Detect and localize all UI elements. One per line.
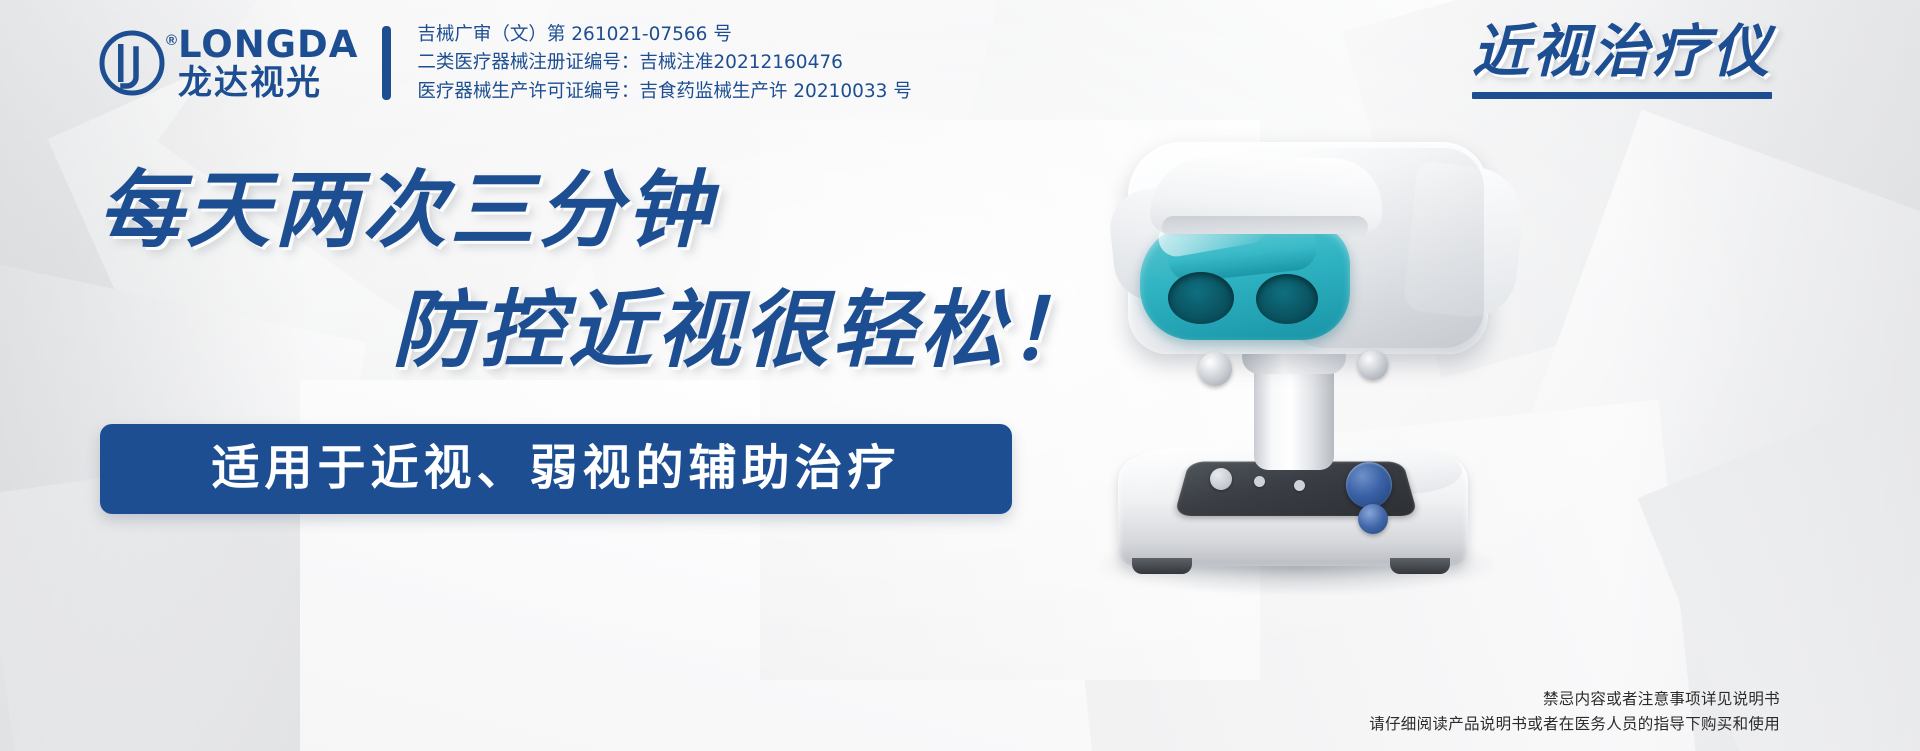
device-pivot-knob-right — [1358, 350, 1388, 380]
disclaimer-line: 禁忌内容或者注意事项详见说明书 — [1369, 687, 1780, 712]
device-foot — [1132, 558, 1192, 574]
footer-disclaimer: 禁忌内容或者注意事项详见说明书 请仔细阅读产品说明书或者在医务人员的指导下购买和… — [1369, 687, 1780, 737]
device-dial-knob — [1346, 462, 1392, 508]
header-divider — [382, 26, 391, 100]
registration-line: 二类医疗器械注册证编号：吉械注准20212160476 — [417, 50, 911, 76]
registered-trademark-icon: ® — [166, 32, 177, 49]
registration-line: 吉械广审（文）第 261021-07566 号 — [417, 22, 911, 48]
brand-logo-wordmark: LONGDA 龙达视光 — [178, 26, 358, 102]
device-button — [1294, 480, 1305, 491]
device-eyepiece-left — [1168, 272, 1234, 324]
headline-line-2: 防控近视很轻松！ — [392, 288, 1096, 372]
product-image — [1058, 96, 1538, 596]
device-button — [1210, 468, 1232, 490]
disclaimer-line: 请仔细阅读产品说明书或者在医务人员的指导下购买和使用 — [1369, 712, 1780, 737]
headline-line-1: 每天两次三分钟 — [98, 168, 714, 252]
device-dial-knob-small — [1358, 504, 1388, 534]
banner-header: ® LONGDA 龙达视光 吉械广审（文）第 261021-07566 号 二类… — [96, 22, 912, 105]
brand-latin-name: LONGDA — [178, 26, 358, 63]
registration-numbers: 吉械广审（文）第 261021-07566 号 二类医疗器械注册证编号：吉械注准… — [417, 22, 911, 105]
indication-banner: 适用于近视、弱视的辅助治疗 — [100, 424, 1012, 514]
brand-chinese-name: 龙达视光 — [178, 66, 358, 102]
product-title-block: 近视治疗仪 — [1472, 24, 1772, 99]
device-button — [1254, 476, 1265, 487]
product-title: 近视治疗仪 — [1472, 24, 1772, 81]
indication-text: 适用于近视、弱视的辅助治疗 — [211, 445, 900, 493]
device-brow-shadow — [1162, 216, 1368, 238]
device-foot — [1390, 558, 1450, 574]
longda-circle-mark-icon: ® — [96, 27, 168, 99]
brand-logo: ® LONGDA 龙达视光 — [96, 26, 358, 102]
registration-line: 医疗器械生产许可证编号：吉食药监械生产许 20210033 号 — [417, 79, 911, 105]
device-eyepiece-right — [1256, 274, 1318, 324]
device-pivot-knob-left — [1198, 352, 1232, 386]
